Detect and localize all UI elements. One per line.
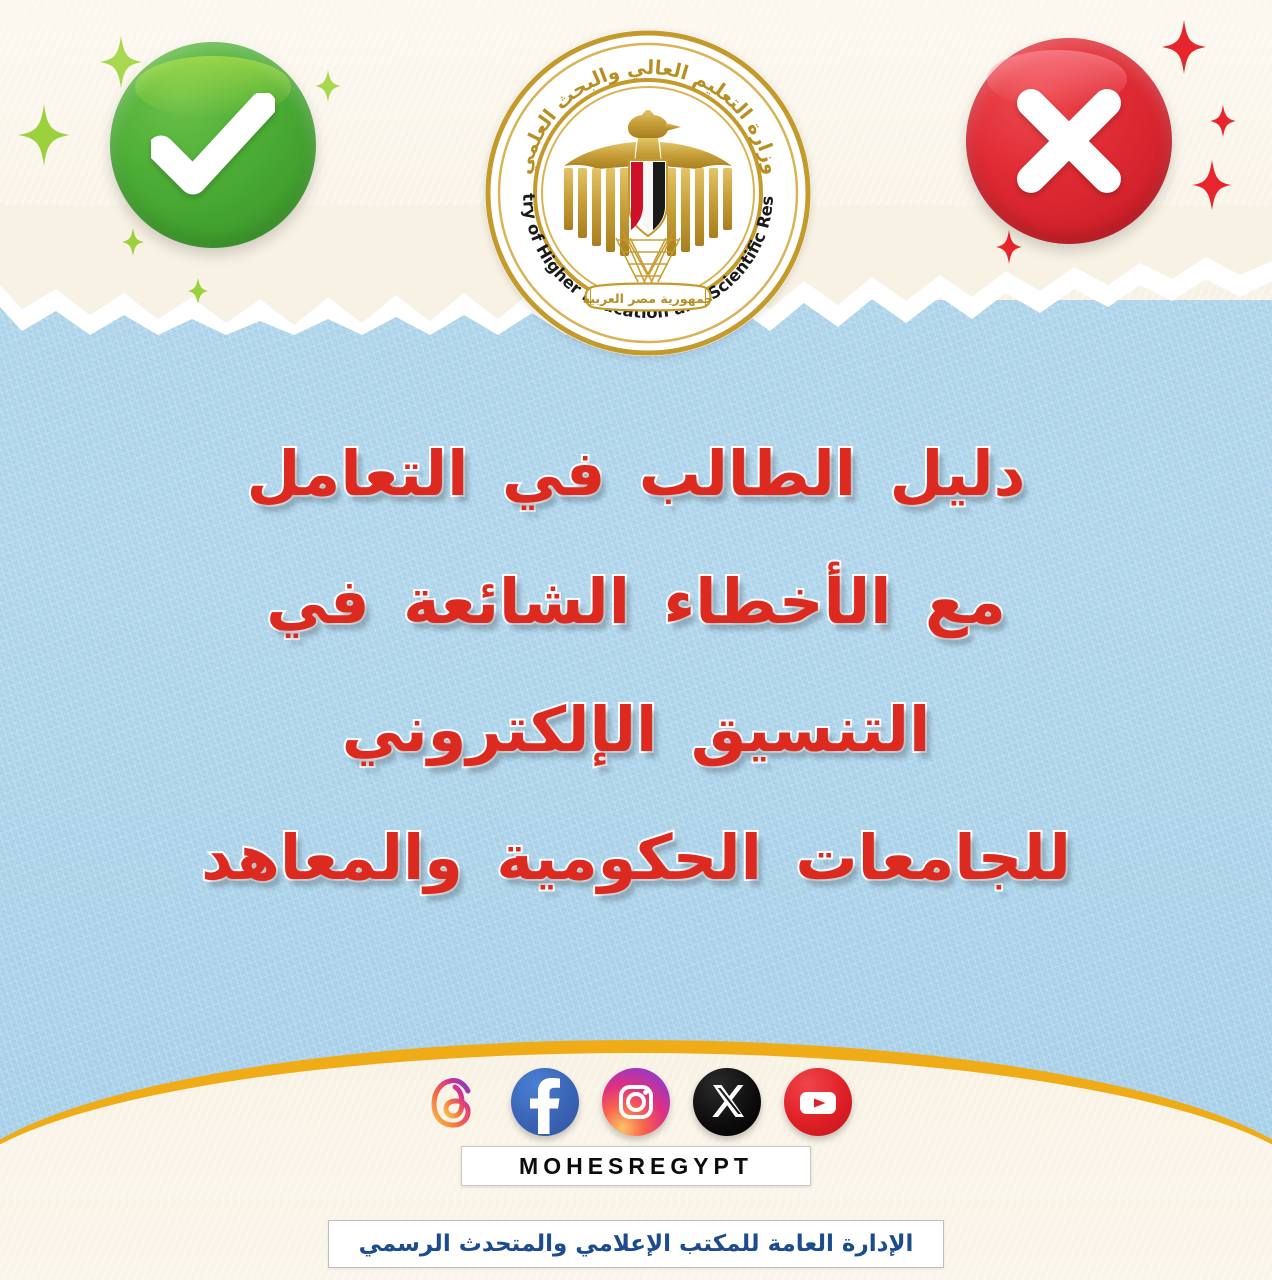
social-link-facebook[interactable] <box>511 1068 579 1136</box>
cross-badge <box>966 38 1172 244</box>
sparkle-icon <box>188 278 208 308</box>
footer-banner: الإدارة العامة للمكتب الإعلامي والمتحدث … <box>328 1220 944 1268</box>
svg-text:جمهورية مصر العربية: جمهورية مصر العربية <box>583 291 714 306</box>
headline-line-3: التنسيق الإلكتروني <box>0 666 1272 794</box>
sparkle-icon <box>122 228 144 260</box>
check-badge <box>110 42 316 248</box>
social-handle: MOHESREGYPT <box>519 1153 753 1180</box>
sparkle-icon <box>1162 20 1206 78</box>
headline-line-4: للجامعات الحكومية والمعاهد <box>0 794 1272 922</box>
sparkle-icon <box>1210 105 1236 141</box>
social-link-instagram[interactable] <box>602 1068 670 1136</box>
sparkle-icon <box>996 230 1022 268</box>
social-handle-box: MOHESREGYPT <box>461 1146 811 1186</box>
youtube-icon <box>786 1070 850 1134</box>
ministry-seal: وزارة التعليم العالي والبحث العلمي Minis… <box>483 28 813 358</box>
headline: دليل الطالب في التعامل مع الأخطاء الشائع… <box>0 410 1272 922</box>
social-link-x[interactable] <box>693 1068 761 1136</box>
headline-line-1: دليل الطالب في التعامل <box>0 410 1272 538</box>
sparkle-icon <box>18 104 70 170</box>
facebook-icon <box>513 1070 577 1134</box>
poster-canvas: وزارة التعليم العالي والبحث العلمي Minis… <box>0 0 1272 1280</box>
social-links <box>0 1068 1272 1136</box>
instagram-icon <box>604 1070 668 1134</box>
threads-icon <box>422 1070 486 1134</box>
check-mark-icon <box>151 93 275 197</box>
social-link-youtube[interactable] <box>784 1068 852 1136</box>
cross-mark-icon <box>1013 85 1125 197</box>
footer-text: الإدارة العامة للمكتب الإعلامي والمتحدث … <box>359 1231 914 1257</box>
social-link-threads[interactable] <box>420 1068 488 1136</box>
headline-line-2: مع الأخطاء الشائعة في <box>0 538 1272 666</box>
sparkle-icon <box>1192 160 1232 214</box>
sparkle-icon <box>315 70 341 106</box>
x-twitter-icon <box>695 1070 759 1134</box>
